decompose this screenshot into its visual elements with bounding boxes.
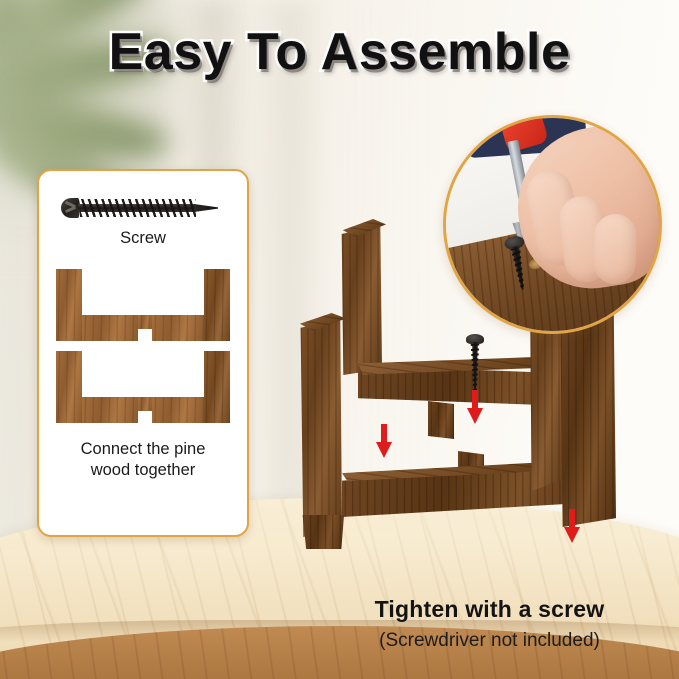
stand-post-front-left [298, 319, 342, 537]
arrow-screw-insert [467, 390, 483, 424]
frame-bar-right [152, 315, 204, 341]
connect-caption-line1: Connect the pine [39, 439, 247, 460]
u-shaped-pine-frame-bottom [56, 351, 230, 423]
arrow-head [467, 408, 483, 424]
u-shaped-pine-frame-top [56, 269, 230, 341]
page-title: Easy To Assemble [0, 26, 679, 78]
screwdriver-closeup-photo [443, 115, 662, 334]
stand-rail-notch [428, 401, 454, 439]
frame-bar-right [152, 397, 204, 423]
bottom-caption-sub: (Screwdriver not included) [300, 630, 679, 652]
frame-bar-left [82, 315, 138, 341]
screw-threads [80, 199, 196, 217]
arrow-shaft [569, 509, 575, 530]
connect-caption: Connect the pine wood together [39, 439, 247, 481]
screw-label: Screw [39, 229, 247, 248]
arrow-head [564, 527, 580, 543]
stand-post-back-left [340, 225, 382, 375]
stand-post-right-front [558, 305, 616, 527]
floating-screw-icon [466, 334, 484, 396]
arrow-shaft [381, 424, 387, 445]
frame-leg-left [56, 351, 82, 423]
frame-leg-left [56, 269, 82, 341]
screw-threads [469, 344, 481, 392]
screw-icon [61, 195, 225, 221]
parts-info-card: Screw Connect the pine wood together [37, 169, 249, 537]
frame-notch [138, 397, 152, 411]
finger [593, 213, 637, 284]
bottom-caption-main: Tighten with a screw [300, 596, 679, 623]
frame-leg-right [204, 269, 230, 341]
arrow-head [376, 442, 392, 458]
arrow-right-leg [564, 509, 580, 543]
frame-leg-right [204, 351, 230, 423]
frame-notch [138, 315, 152, 329]
arrow-shaft [472, 390, 478, 411]
infographic-canvas: Easy To Assemble Screw [0, 0, 679, 679]
arrow-left-leg [376, 424, 392, 458]
frame-bar-left [82, 397, 138, 423]
screw-tip [194, 204, 218, 212]
screw-threads [509, 247, 530, 289]
stand-foot-left [300, 515, 344, 549]
connect-caption-line2: wood together [39, 460, 247, 481]
